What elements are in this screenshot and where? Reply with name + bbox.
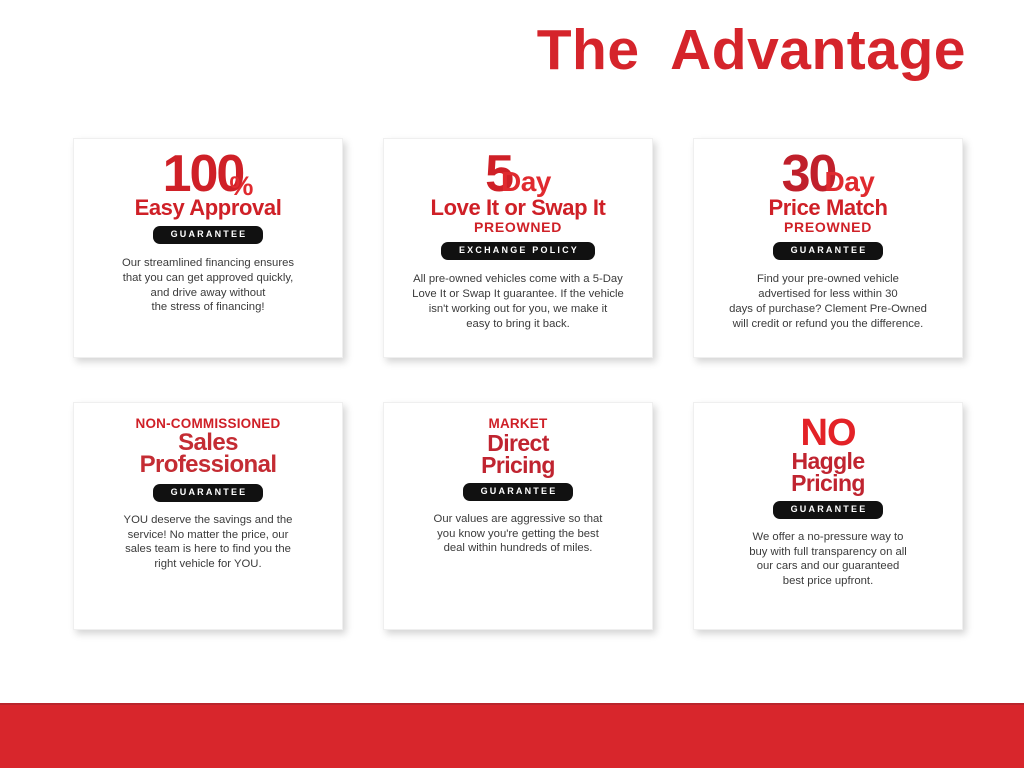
card-headline: NON-COMMISSIONED Sales Professional GUAR… — [136, 417, 281, 502]
headline-main: Easy Approval — [135, 197, 282, 219]
headline-stack-line-1: Haggle — [791, 450, 864, 472]
guarantee-badge: GUARANTEE — [773, 501, 884, 519]
headline-number-row: 30 Day — [782, 153, 875, 196]
headline-sub: PREOWNED — [474, 220, 562, 235]
benefit-card-no-haggle-pricing[interactable]: NO Haggle Pricing GUARANTEE We offer a n… — [693, 402, 963, 630]
benefit-card-easy-approval[interactable]: 100 % Easy Approval GUARANTEE Our stream… — [73, 138, 343, 358]
headline-sub: PREOWNED — [784, 220, 872, 235]
headline-suffix-percent: % — [229, 175, 253, 199]
benefit-card-grid: 100 % Easy Approval GUARANTEE Our stream… — [73, 138, 963, 630]
card-body-text: Our values are aggressive so that you kn… — [434, 512, 603, 556]
headline-stack-line-2: Pricing — [481, 454, 555, 476]
headline-suffix-day: Day — [501, 170, 551, 195]
headline-number-row: 5 Day — [485, 153, 551, 196]
headline-word-no: NO — [801, 417, 856, 450]
page-header: The Advantage — [0, 0, 1024, 100]
page-title: The Advantage — [537, 22, 966, 79]
headline-main: Love It or Swap It — [431, 197, 606, 219]
card-headline: 5 Day Love It or Swap It PREOWNED EXCHAN… — [431, 153, 606, 260]
card-body-text: All pre-owned vehicles come with a 5-Day… — [412, 272, 624, 331]
headline-suffix-day: Day — [824, 170, 874, 195]
card-body-text: Find your pre-owned vehicle advertised f… — [729, 272, 927, 331]
headline-stack-line-2: Professional — [140, 454, 277, 477]
card-body-text: Our streamlined financing ensures that y… — [122, 256, 294, 315]
headline-main: Price Match — [768, 197, 887, 219]
card-headline: 30 Day Price Match PREOWNED GUARANTEE — [768, 153, 887, 260]
headline-stack-line-2: Pricing — [791, 472, 865, 494]
card-body-text: We offer a no-pressure way to buy with f… — [749, 530, 907, 589]
card-headline: NO Haggle Pricing GUARANTEE — [773, 417, 884, 519]
benefit-card-sales-professional[interactable]: NON-COMMISSIONED Sales Professional GUAR… — [73, 402, 343, 630]
exchange-policy-badge: EXCHANGE POLICY — [441, 242, 595, 260]
card-headline: MARKET Direct Pricing GUARANTEE — [463, 417, 574, 501]
guarantee-badge: GUARANTEE — [153, 484, 264, 502]
guarantee-badge: GUARANTEE — [773, 242, 884, 260]
headline-stack-line-1: Direct — [487, 432, 549, 454]
benefit-card-price-match[interactable]: 30 Day Price Match PREOWNED GUARANTEE Fi… — [693, 138, 963, 358]
guarantee-badge: GUARANTEE — [463, 483, 574, 501]
benefit-card-love-it-or-swap-it[interactable]: 5 Day Love It or Swap It PREOWNED EXCHAN… — [383, 138, 653, 358]
card-headline: 100 % Easy Approval GUARANTEE — [135, 153, 282, 244]
headline-number-row: 100 % — [163, 153, 254, 196]
guarantee-badge: GUARANTEE — [153, 226, 264, 244]
footer-accent-bar — [0, 703, 1024, 768]
card-body-text: YOU deserve the savings and the service!… — [124, 513, 293, 572]
benefit-card-market-direct-pricing[interactable]: MARKET Direct Pricing GUARANTEE Our valu… — [383, 402, 653, 630]
